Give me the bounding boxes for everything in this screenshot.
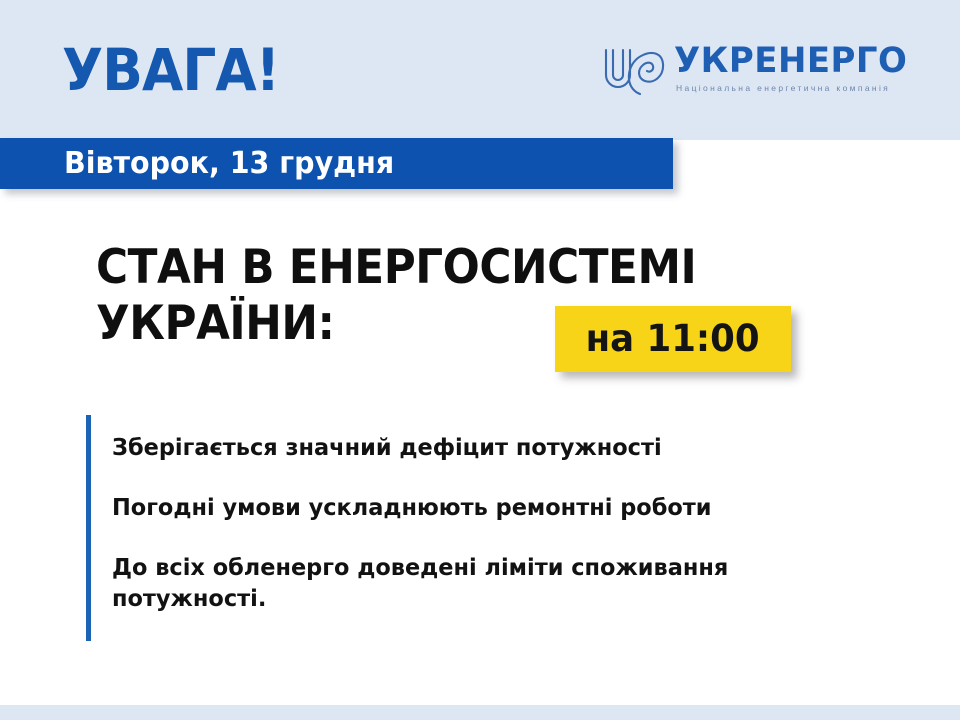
list-item: Зберігається значний дефіцит потужності xyxy=(112,432,742,463)
accent-bar xyxy=(86,415,91,641)
main-heading-line-1: СТАН В ЕНЕРГОСИСТЕМІ xyxy=(96,240,766,296)
ukrenergo-logo: УКРЕНЕРГО Національна енергетична компан… xyxy=(600,42,918,104)
list-item: До всіх обленерго доведені ліміти спожив… xyxy=(112,552,742,614)
date-banner-text: Вівторок, 13 грудня xyxy=(64,146,394,182)
time-badge: на 11:00 xyxy=(555,306,791,372)
logo-subtitle: Національна енергетична компанія xyxy=(676,83,890,94)
attention-title: УВАГА! xyxy=(62,40,279,100)
logo-wordmark: УКРЕНЕРГО xyxy=(674,42,907,80)
list-item: Погодні умови ускладнюють ремонтні робот… xyxy=(112,492,742,523)
ukrenergo-u-leaf-mark xyxy=(600,44,668,98)
date-banner: Вівторок, 13 грудня xyxy=(0,138,673,189)
bottom-strip xyxy=(0,705,960,720)
bullet-list: Зберігається значний дефіцит потужності … xyxy=(112,432,792,614)
time-badge-text: на 11:00 xyxy=(586,319,760,359)
